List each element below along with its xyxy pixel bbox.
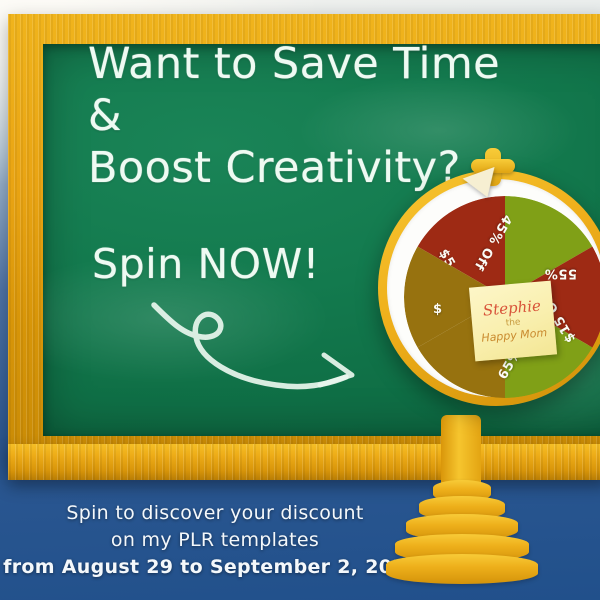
caption-line-2: on my PLR templates — [0, 527, 430, 554]
brand-name: Stephie — [482, 299, 541, 319]
chalk-arrow-icon — [140, 285, 380, 400]
caption-line-3: from August 29 to September 2, 2024. — [0, 554, 430, 581]
brand-sticky-note: Stephie the Happy Mom — [469, 281, 557, 362]
wheel-white-rim: $5 Off45% Off55%$15 Off65% Off$ Stephie … — [387, 179, 600, 397]
prize-wheel[interactable]: $5 Off45% Off55%$15 Off65% Off$ Stephie … — [378, 150, 600, 600]
brand-connector: the — [505, 318, 521, 328]
wheel-outer-ring: $5 Off45% Off55%$15 Off65% Off$ Stephie … — [378, 170, 600, 406]
wheel-base — [386, 480, 538, 590]
wheel-segment-label: $ — [433, 302, 443, 317]
brand-tagline: Happy Mom — [481, 327, 548, 344]
headline-line-1: Want to Save Time & — [88, 38, 518, 142]
caption-block: Spin to discover your discount on my PLR… — [0, 500, 430, 581]
caption-line-1: Spin to discover your discount — [0, 500, 430, 527]
spin-now-text: Spin NOW! — [92, 240, 320, 288]
